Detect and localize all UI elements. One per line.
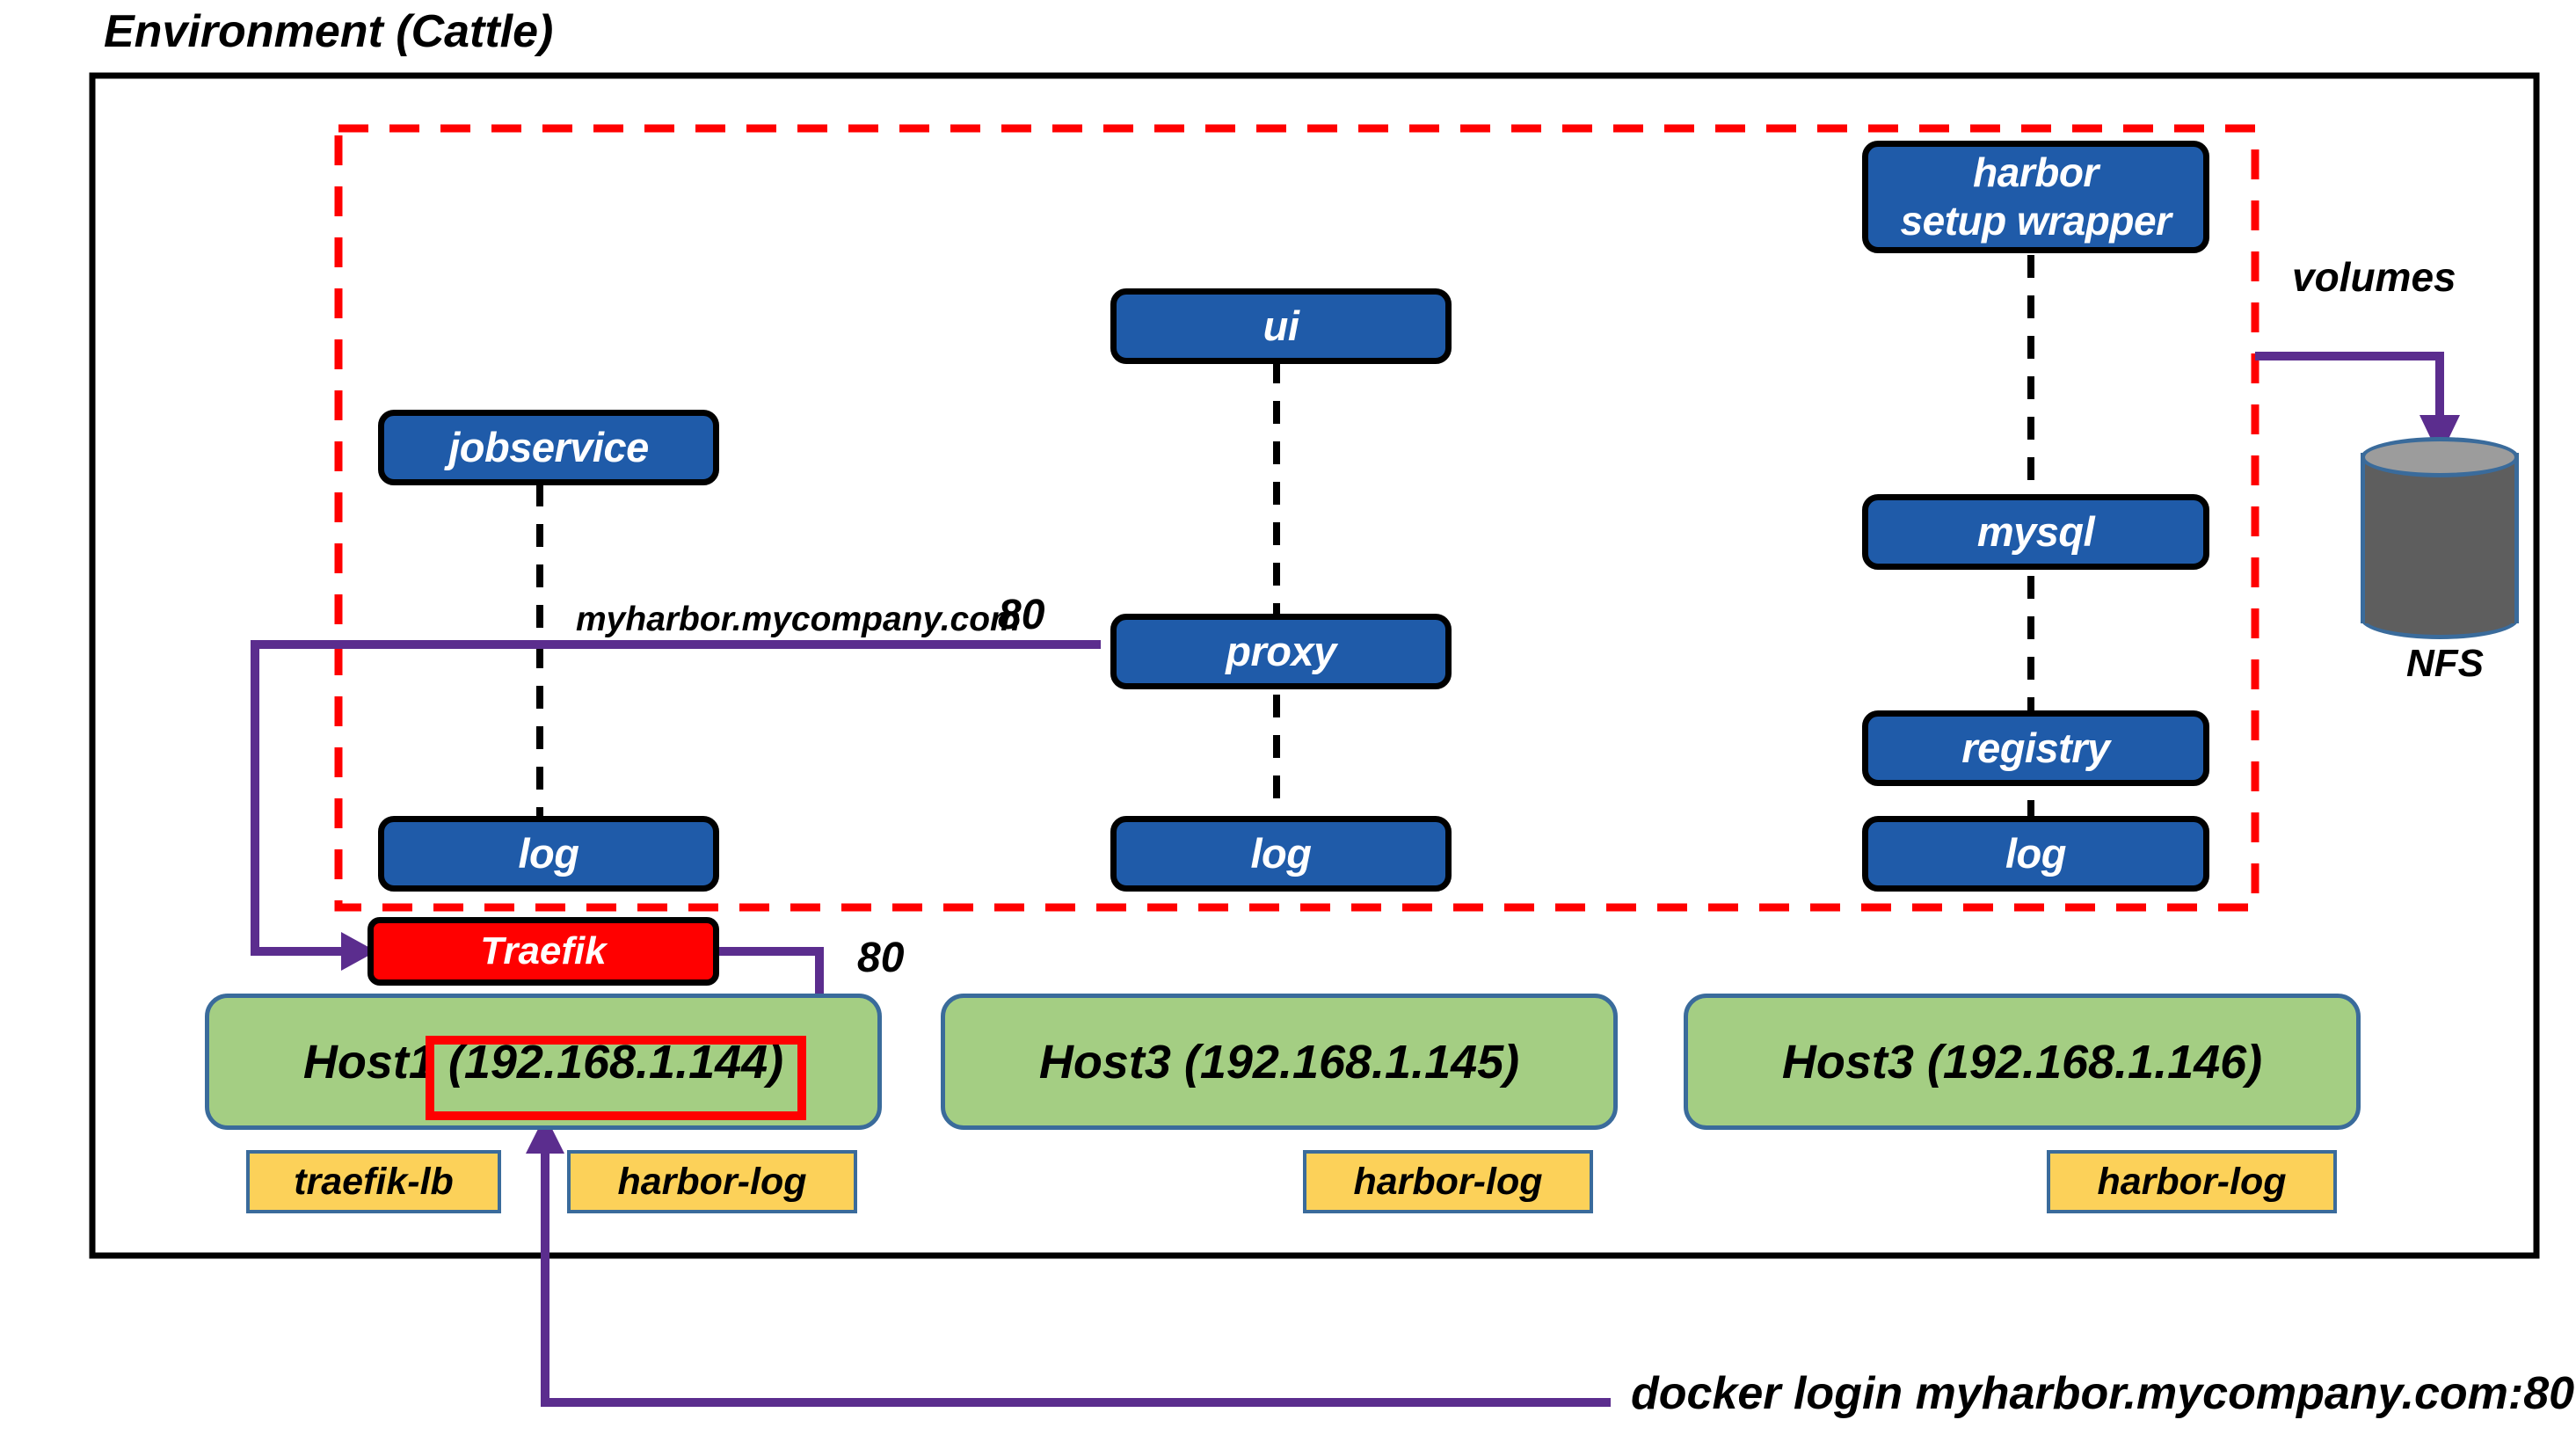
host-box-3[interactable]: Host3 (192.168.1.146) [1684,994,2361,1130]
port-label-traefik: 80 [857,934,904,982]
service-box-registry[interactable]: registry [1862,710,2209,786]
connector-volumes-to-nfs [2255,356,2440,431]
stack-label-traefik-lb[interactable]: traefik-lb [246,1150,501,1213]
port-label-proxy: 80 [998,591,1044,639]
host1-ip-highlight [426,1036,806,1120]
harbor-setup-wrapper-line-2: setup wrapper [1901,197,2172,245]
docker-login-command: docker login myharbor.mycompany.com:80 [1631,1367,2574,1420]
service-box-proxy-log[interactable]: log [1110,816,1452,892]
service-box-jobservice-log[interactable]: log [378,816,719,892]
stack-label-harbor-log-host1[interactable]: harbor-log [567,1150,857,1213]
traefik-box[interactable]: Traefik [367,917,719,986]
nfs-cylinder-body [2361,453,2519,623]
nfs-cylinder-icon [2361,437,2519,639]
service-box-proxy[interactable]: proxy [1110,614,1452,689]
nfs-label: NFS [2406,642,2484,686]
harbor-setup-wrapper-line-1: harbor [1973,149,2099,197]
service-box-mysql[interactable]: mysql [1862,494,2209,570]
service-box-harbor-setup-wrapper[interactable]: harbor setup wrapper [1862,141,2209,253]
nfs-cylinder-top [2361,437,2519,477]
service-box-jobservice[interactable]: jobservice [378,410,719,485]
diagram-canvas: Environment (Cattle) jobservice log ui p… [0,0,2576,1449]
stack-label-harbor-log-host3[interactable]: harbor-log [2047,1150,2337,1213]
volumes-label: volumes [2292,253,2456,301]
service-box-registry-log[interactable]: log [1862,816,2209,892]
stack-label-harbor-log-host2[interactable]: harbor-log [1303,1150,1593,1213]
page-title: Environment (Cattle) [104,5,553,58]
service-box-ui[interactable]: ui [1110,288,1452,364]
connector-proxy-to-traefik [255,644,1101,951]
host-box-2[interactable]: Host3 (192.168.1.145) [941,994,1618,1130]
hostname-label: myharbor.mycompany.com [576,601,1021,639]
